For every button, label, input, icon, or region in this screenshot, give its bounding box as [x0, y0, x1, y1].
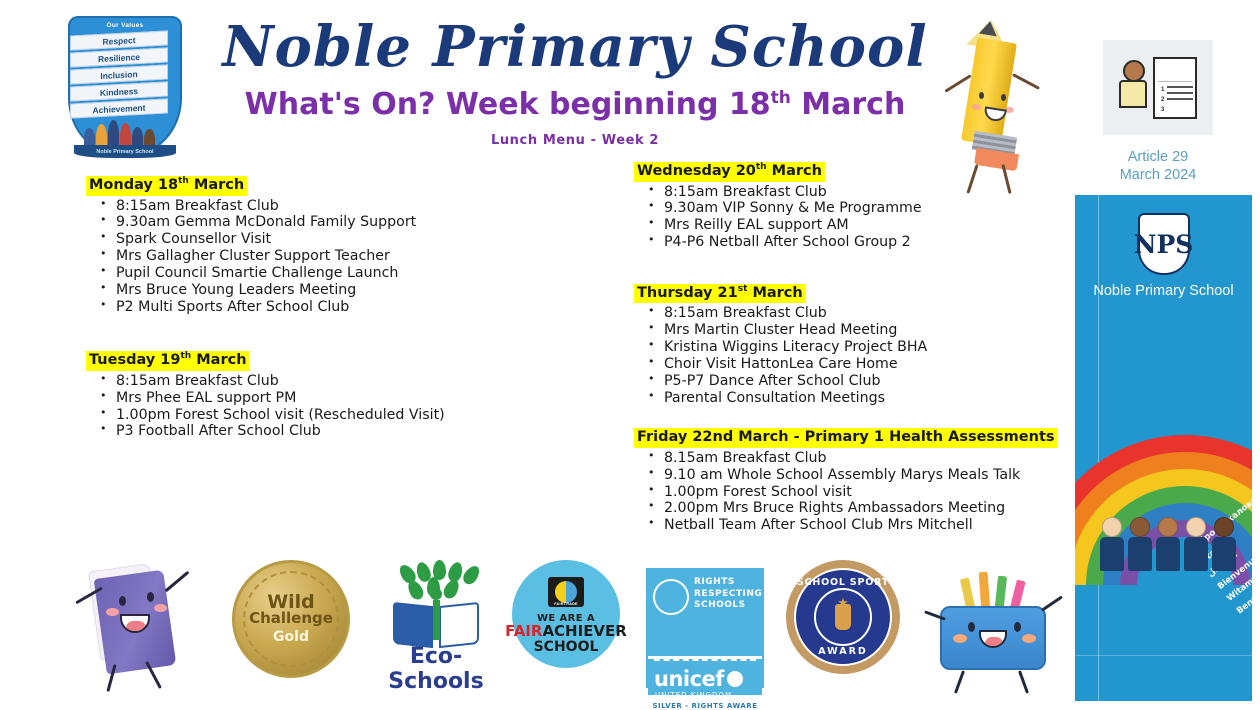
- fair-word-achiever: ACHIEVER: [542, 622, 626, 640]
- poster-children-illustration: [1083, 461, 1252, 571]
- day-heading-monday-ordinal: th: [178, 176, 189, 186]
- whats-on-ordinal: th: [771, 88, 791, 108]
- article-reference: Article 29 March 2024: [1095, 148, 1221, 184]
- day-column-right: Wednesday 20th March 8:15am Breakfast Cl…: [634, 162, 1054, 544]
- pencil-case-mascot-icon: [922, 562, 1062, 692]
- wild-challenge-gold-badge: Wild Challenge Gold: [232, 560, 350, 678]
- whats-on-subtitle: What's On? Week beginning 18th March: [205, 88, 945, 121]
- day-heading-wednesday-month: March: [767, 163, 822, 179]
- school-sport-award-badge: SCHOOL SPORT ★ AWARD: [786, 560, 900, 674]
- event-list-monday: 8:15am Breakfast Club 9.30am Gemma McDon…: [86, 198, 556, 316]
- day-heading-tuesday-month: March: [191, 352, 246, 368]
- day-heading-wednesday-ordinal: th: [756, 162, 767, 172]
- list-item: 8:15am Breakfast Club: [86, 373, 556, 390]
- list-item: 1.00pm Forest School visit: [634, 484, 1054, 501]
- list-item: Kristina Wiggins Literacy Project BHA: [634, 339, 1054, 356]
- list-item: 8:15am Breakfast Club: [86, 198, 556, 215]
- list-item-club: P2 Multi Sports After School Club: [86, 299, 556, 316]
- list-item-club: P4-P6 Netball After School Group 2: [634, 234, 1054, 251]
- list-item: 1.00pm Forest School visit (Rescheduled …: [86, 407, 556, 424]
- unicef-rrsa-badge: RIGHTS RESPECTING SCHOOLS unicef UNITED …: [646, 568, 764, 688]
- eco-tree-icon: [377, 562, 495, 642]
- event-list-wednesday: 8:15am Breakfast Club 9.30am VIP Sonny &…: [634, 184, 1054, 251]
- page-title: Noble Primary School: [205, 18, 945, 77]
- list-item: Choir Visit HattonLea Care Home: [634, 356, 1054, 373]
- fairachiever-school-badge: FAIRTRADE WE ARE A FAIRACHIEVER SCHOOL: [512, 560, 620, 668]
- fair-line2: FAIRACHIEVER: [505, 624, 627, 640]
- poster-school-name: Noble Primary School: [1075, 283, 1252, 299]
- list-item: Spark Counsellor Visit: [86, 231, 556, 248]
- list-item-club: Netball Team After School Club Mrs Mitch…: [634, 517, 1054, 534]
- day-heading-wednesday-text: Wednesday 20: [637, 163, 756, 179]
- article-29-pictogram-icon: 1 2 3: [1103, 40, 1213, 135]
- unicef-rrs-line2: RESPECTING: [694, 589, 762, 601]
- crest-our-values-label: Our Values: [62, 22, 188, 29]
- wild-challenge-level: Gold: [273, 629, 309, 645]
- unicef-rrs-text: RIGHTS RESPECTING SCHOOLS: [694, 577, 762, 656]
- list-item: Mrs Reilly EAL support AM: [634, 217, 1054, 234]
- welcome-poster: NPS Noble Primary School Добро пожаловат…: [1075, 195, 1252, 701]
- unicef-children-circle-icon: [653, 579, 689, 615]
- crest-school-name: Noble Primary School: [74, 145, 176, 158]
- eco-schools-badge: Eco-Schools: [372, 562, 500, 687]
- day-column-left: Monday 18th March 8:15am Breakfast Club …: [86, 176, 556, 450]
- event-list-tuesday: 8:15am Breakfast Club Mrs Phee EAL suppo…: [86, 373, 556, 440]
- eco-schools-label: Eco-Schools: [372, 644, 500, 694]
- article-date: March 2024: [1095, 166, 1221, 184]
- wild-challenge-line2: Challenge: [249, 611, 333, 627]
- day-heading-monday-month: March: [189, 177, 244, 193]
- list-item: 8:15am Breakfast Club: [634, 305, 1054, 322]
- book-mascot-icon: [62, 556, 202, 691]
- list-item: 2.00pm Mrs Bruce Rights Ambassadors Meet…: [634, 500, 1054, 517]
- day-heading-thursday-text: Thursday 21: [637, 285, 738, 301]
- list-item: Mrs Martin Cluster Head Meeting: [634, 322, 1054, 339]
- event-list-friday: 8.15am Breakfast Club 9.10 am Whole Scho…: [634, 450, 1054, 534]
- day-heading-tuesday-text: Tuesday 19: [89, 352, 180, 368]
- day-heading-wednesday: Wednesday 20th March: [634, 162, 825, 182]
- sport-award-bottom-text: AWARD: [796, 646, 890, 657]
- list-item: 9.30am VIP Sonny & Me Programme: [634, 200, 1054, 217]
- day-block-wednesday: Wednesday 20th March 8:15am Breakfast Cl…: [634, 162, 1054, 251]
- lunch-menu-label: Lunch Menu - Week 2: [205, 133, 945, 148]
- award-badges-row: Wild Challenge Gold: [0, 548, 1060, 703]
- fairtrade-mark-icon: FAIRTRADE: [548, 577, 584, 607]
- whats-on-month: March: [791, 87, 905, 122]
- day-heading-thursday-month: March: [747, 285, 802, 301]
- list-item: 9.30am Gemma McDonald Family Support: [86, 214, 556, 231]
- list-item: Mrs Gallagher Cluster Support Teacher: [86, 248, 556, 265]
- list-item-club: P5-P7 Dance After School Club: [634, 373, 1054, 390]
- unicef-rrs-line1: RIGHTS: [694, 577, 762, 589]
- unicef-wordmark: unicef: [648, 667, 762, 691]
- day-block-friday: Friday 22nd March - Primary 1 Health Ass…: [634, 428, 1054, 534]
- day-heading-monday-text: Monday 18: [89, 177, 178, 193]
- day-heading-thursday-ordinal: st: [738, 284, 748, 294]
- whats-on-text: What's On? Week beginning 18: [245, 87, 771, 122]
- day-block-tuesday: Tuesday 19th March 8:15am Breakfast Club…: [86, 351, 556, 440]
- event-list-thursday: 8:15am Breakfast Club Mrs Martin Cluster…: [634, 305, 1054, 406]
- sport-award-top-text: SCHOOL SPORT: [796, 577, 890, 588]
- day-heading-tuesday: Tuesday 19th March: [86, 351, 250, 371]
- list-item: 9.10 am Whole School Assembly Marys Meal…: [634, 467, 1054, 484]
- day-heading-thursday: Thursday 21st March: [634, 284, 806, 304]
- list-item: Mrs Phee EAL support PM: [86, 390, 556, 407]
- list-item: Pupil Council Smartie Challenge Launch: [86, 265, 556, 282]
- day-block-monday: Monday 18th March 8:15am Breakfast Club …: [86, 176, 556, 315]
- unicef-rrs-line3: SCHOOLS: [694, 600, 762, 612]
- day-heading-monday: Monday 18th March: [86, 176, 247, 196]
- day-heading-tuesday-ordinal: th: [180, 352, 191, 362]
- whats-on-newsletter: Our Values Respect Resilience Inclusion …: [0, 0, 1260, 709]
- unicef-globe-icon: [727, 671, 743, 687]
- article-number: Article 29: [1095, 148, 1221, 166]
- day-block-thursday: Thursday 21st March 8:15am Breakfast Clu…: [634, 284, 1054, 407]
- school-crest: Our Values Respect Resilience Inclusion …: [62, 14, 188, 172]
- list-item: 8.15am Breakfast Club: [634, 450, 1054, 467]
- poster-crest-icon: NPS: [1138, 213, 1190, 275]
- list-item: Parental Consultation Meetings: [634, 390, 1054, 407]
- fairtrade-caption: FAIRTRADE: [548, 602, 584, 606]
- list-item: Mrs Bruce Young Leaders Meeting: [86, 282, 556, 299]
- list-item-club: P3 Football After School Club: [86, 423, 556, 440]
- list-item: 8:15am Breakfast Club: [634, 184, 1054, 201]
- wild-challenge-line1: Wild: [267, 593, 315, 611]
- unicef-wordmark-text: unicef: [654, 667, 724, 691]
- day-heading-friday: Friday 22nd March - Primary 1 Health Ass…: [634, 428, 1058, 448]
- fair-word-fair: FAIR: [505, 622, 542, 640]
- fair-line3: SCHOOL: [534, 639, 599, 655]
